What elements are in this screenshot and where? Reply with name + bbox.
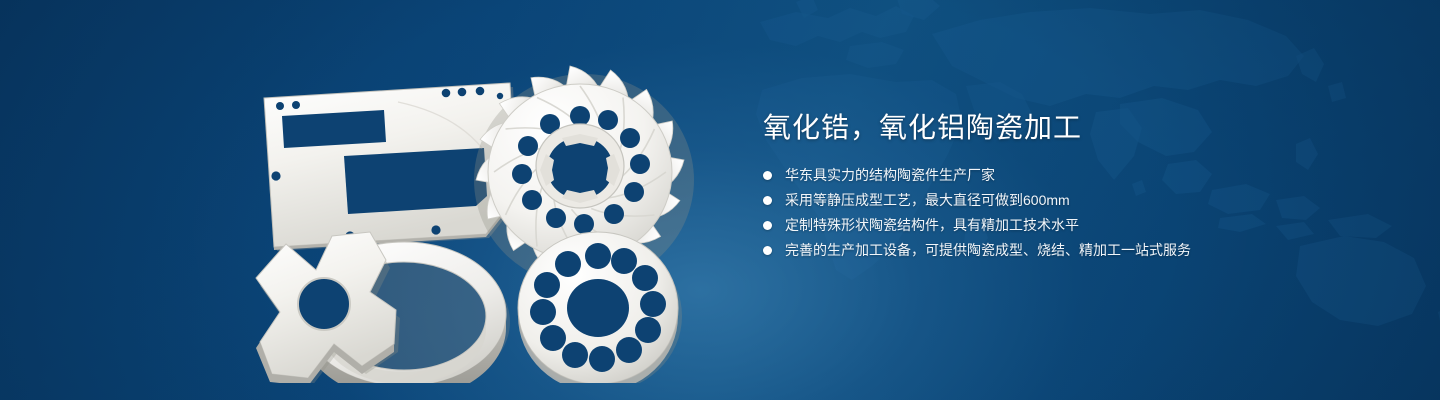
ceramic-cross-and-ring bbox=[256, 232, 510, 383]
bullet-dot-icon bbox=[763, 171, 772, 180]
ceramic-cross-part bbox=[256, 232, 400, 383]
list-item: 采用等静压成型工艺，最大直径可做到600mm bbox=[763, 189, 1383, 212]
list-item: 定制特殊形状陶瓷结构件，具有精加工技术水平 bbox=[763, 214, 1383, 237]
page-title: 氧化锆，氧化铝陶瓷加工 bbox=[763, 108, 1383, 148]
list-item-label: 定制特殊形状陶瓷结构件，具有精加工技术水平 bbox=[785, 214, 1079, 237]
bullet-dot-icon bbox=[763, 221, 772, 230]
bullet-dot-icon bbox=[763, 246, 772, 255]
list-item: 完善的生产加工设备，可提供陶瓷成型、烧结、精加工一站式服务 bbox=[763, 239, 1383, 262]
feature-list: 华东具实力的结构陶瓷件生产厂家 采用等静压成型工艺，最大直径可做到600mm 定… bbox=[763, 164, 1383, 262]
ceramic-products-image bbox=[238, 38, 718, 383]
list-item-label: 华东具实力的结构陶瓷件生产厂家 bbox=[785, 164, 995, 187]
banner-text-block: 氧化锆，氧化铝陶瓷加工 华东具实力的结构陶瓷件生产厂家 采用等静压成型工艺，最大… bbox=[763, 108, 1383, 264]
list-item-label: 采用等静压成型工艺，最大直径可做到600mm bbox=[785, 189, 1070, 212]
list-item: 华东具实力的结构陶瓷件生产厂家 bbox=[763, 164, 1383, 187]
bullet-dot-icon bbox=[763, 196, 772, 205]
promo-banner: 氧化锆，氧化铝陶瓷加工 华东具实力的结构陶瓷件生产厂家 采用等静压成型工艺，最大… bbox=[0, 0, 1440, 400]
list-item-label: 完善的生产加工设备，可提供陶瓷成型、烧结、精加工一站式服务 bbox=[785, 239, 1191, 262]
